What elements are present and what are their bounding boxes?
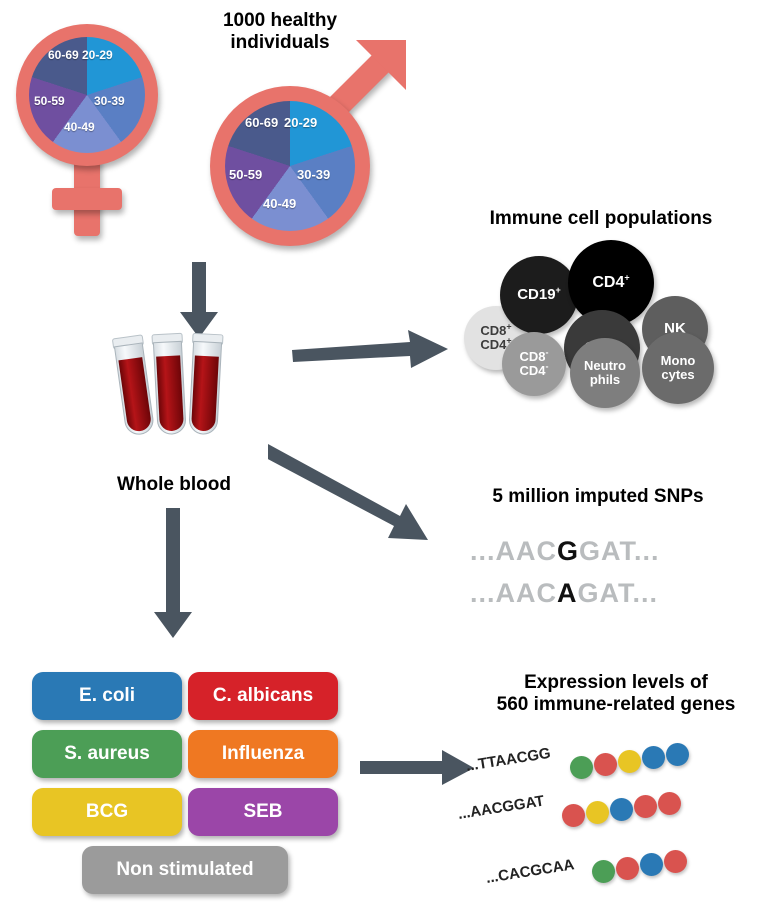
- strand-3-bead-2: [616, 857, 639, 880]
- stimulus-label-e-coli: E. coli: [79, 685, 135, 707]
- male-pie-label-30-39: 30-39: [297, 167, 330, 182]
- stimuli-group: E. coli C. albicans S. aureus Influenza …: [30, 672, 340, 892]
- expression-title: Expression levels of 560 immune-related …: [468, 672, 764, 716]
- stimulus-label-seb: SEB: [243, 801, 282, 823]
- strand-1-sequence: ...TTAACGG: [465, 745, 552, 775]
- arrow-blood-to-immune: [292, 328, 450, 370]
- male-symbol: 20-29 30-39 40-49 50-59 60-69: [200, 38, 420, 258]
- expression-title-line1: Expression levels of: [468, 672, 764, 694]
- stimulus-seb: SEB: [188, 788, 338, 836]
- cell-cd8-cd4-dn: CD8-CD4-: [502, 332, 566, 396]
- strand-2-bead-1: [562, 804, 585, 827]
- stimulus-bcg: BCG: [32, 788, 182, 836]
- snp-suffix-2: GAT...: [578, 578, 659, 608]
- female-pie-label-20-29: 20-29: [82, 48, 113, 62]
- strand-1-bead-3: [618, 750, 641, 773]
- snps-title: 5 million imputed SNPs: [448, 486, 748, 508]
- arrow-blood-to-stimuli: [152, 508, 194, 640]
- stimulus-c-albicans: C. albicans: [188, 672, 338, 720]
- cell-label-monocytes: Monocytes: [661, 354, 696, 382]
- figure-canvas: 1000 healthy individuals 20-29 30-39 40-…: [0, 0, 771, 922]
- cell-label-cd8-cd4-dn: CD8-CD4-: [519, 350, 548, 378]
- strand-1-bead-1: [570, 756, 593, 779]
- cell-label-cd4: CD4+: [592, 276, 629, 290]
- expression-strands: ...TTAACGG ...AACGGAT ...CACGCAA: [458, 740, 758, 910]
- strand-3-bead-1: [592, 860, 615, 883]
- strand-2-bead-3: [610, 798, 633, 821]
- blood-tubes: [108, 332, 240, 450]
- strand-2-bead-2: [586, 801, 609, 824]
- strand-3-bead-3: [640, 853, 663, 876]
- arrow-blood-to-snps: [268, 440, 446, 550]
- snp-prefix-2: ...AAC: [470, 578, 557, 608]
- arrow-cohort-to-blood: [178, 262, 220, 340]
- cell-cd19: CD19+: [500, 256, 578, 334]
- cell-label-neutrophils: Neutrophils: [584, 359, 626, 387]
- female-pie-label-40-49: 40-49: [64, 120, 95, 134]
- strand-2-sequence: ...AACGGAT: [457, 792, 546, 822]
- male-pie-label-60-69: 60-69: [245, 115, 278, 130]
- immune-title: Immune cell populations: [446, 208, 756, 230]
- cell-neutrophils: Neutrophils: [570, 338, 640, 408]
- female-symbol: 20-29 30-39 40-49 50-59 60-69: [8, 10, 198, 240]
- immune-cells-group: CD8+CD4+ CD19+ CD4+ CD8+ NK CD8-CD4- Neu…: [452, 238, 752, 410]
- male-symbol-arrowhead: [348, 38, 408, 98]
- male-pie-label-50-59: 50-59: [229, 167, 262, 182]
- stimulus-influenza: Influenza: [188, 730, 338, 778]
- male-pie-label-20-29: 20-29: [284, 115, 317, 130]
- cohort-heading-line1: 1000 healthy: [170, 10, 390, 32]
- female-symbol-crossbar: [52, 188, 122, 210]
- snp-sequence-1: ...AACGGAT...: [470, 536, 660, 567]
- strand-3-bead-4: [664, 850, 687, 873]
- snp-prefix-1: ...AAC: [470, 536, 557, 566]
- stimulus-label-c-albicans: C. albicans: [213, 685, 313, 707]
- stimulus-s-aureus: S. aureus: [32, 730, 182, 778]
- strand-3-sequence: ...CACGCAA: [485, 856, 576, 887]
- snp-suffix-1: GAT...: [579, 536, 660, 566]
- female-pie-label-50-59: 50-59: [34, 94, 65, 108]
- cell-label-cd19: CD19+: [517, 288, 561, 302]
- strand-2: ...AACGGAT: [458, 784, 758, 844]
- snp-sequence-2: ...AACAGAT...: [470, 578, 658, 609]
- strand-1-bead-4: [642, 746, 665, 769]
- stimulus-label-bcg: BCG: [86, 801, 128, 823]
- snp-variant-1: G: [557, 536, 579, 566]
- female-pie-label-30-39: 30-39: [94, 94, 125, 108]
- strand-3: ...CACGCAA: [458, 840, 758, 900]
- snp-variant-2: A: [557, 578, 578, 608]
- stimulus-label-s-aureus: S. aureus: [64, 743, 150, 765]
- strand-1-bead-2: [594, 753, 617, 776]
- stimulus-label-influenza: Influenza: [222, 743, 304, 765]
- female-pie-label-60-69: 60-69: [48, 48, 79, 62]
- stimulus-e-coli: E. coli: [32, 672, 182, 720]
- strand-2-bead-5: [658, 792, 681, 815]
- cell-monocytes: Monocytes: [642, 332, 714, 404]
- expression-title-line2: 560 immune-related genes: [468, 694, 764, 716]
- strand-2-bead-4: [634, 795, 657, 818]
- whole-blood-label: Whole blood: [84, 474, 264, 496]
- strand-1-bead-5: [666, 743, 689, 766]
- male-pie-label-40-49: 40-49: [263, 196, 296, 211]
- stimulus-label-non-stimulated: Non stimulated: [116, 859, 253, 881]
- stimulus-non-stimulated: Non stimulated: [82, 846, 288, 894]
